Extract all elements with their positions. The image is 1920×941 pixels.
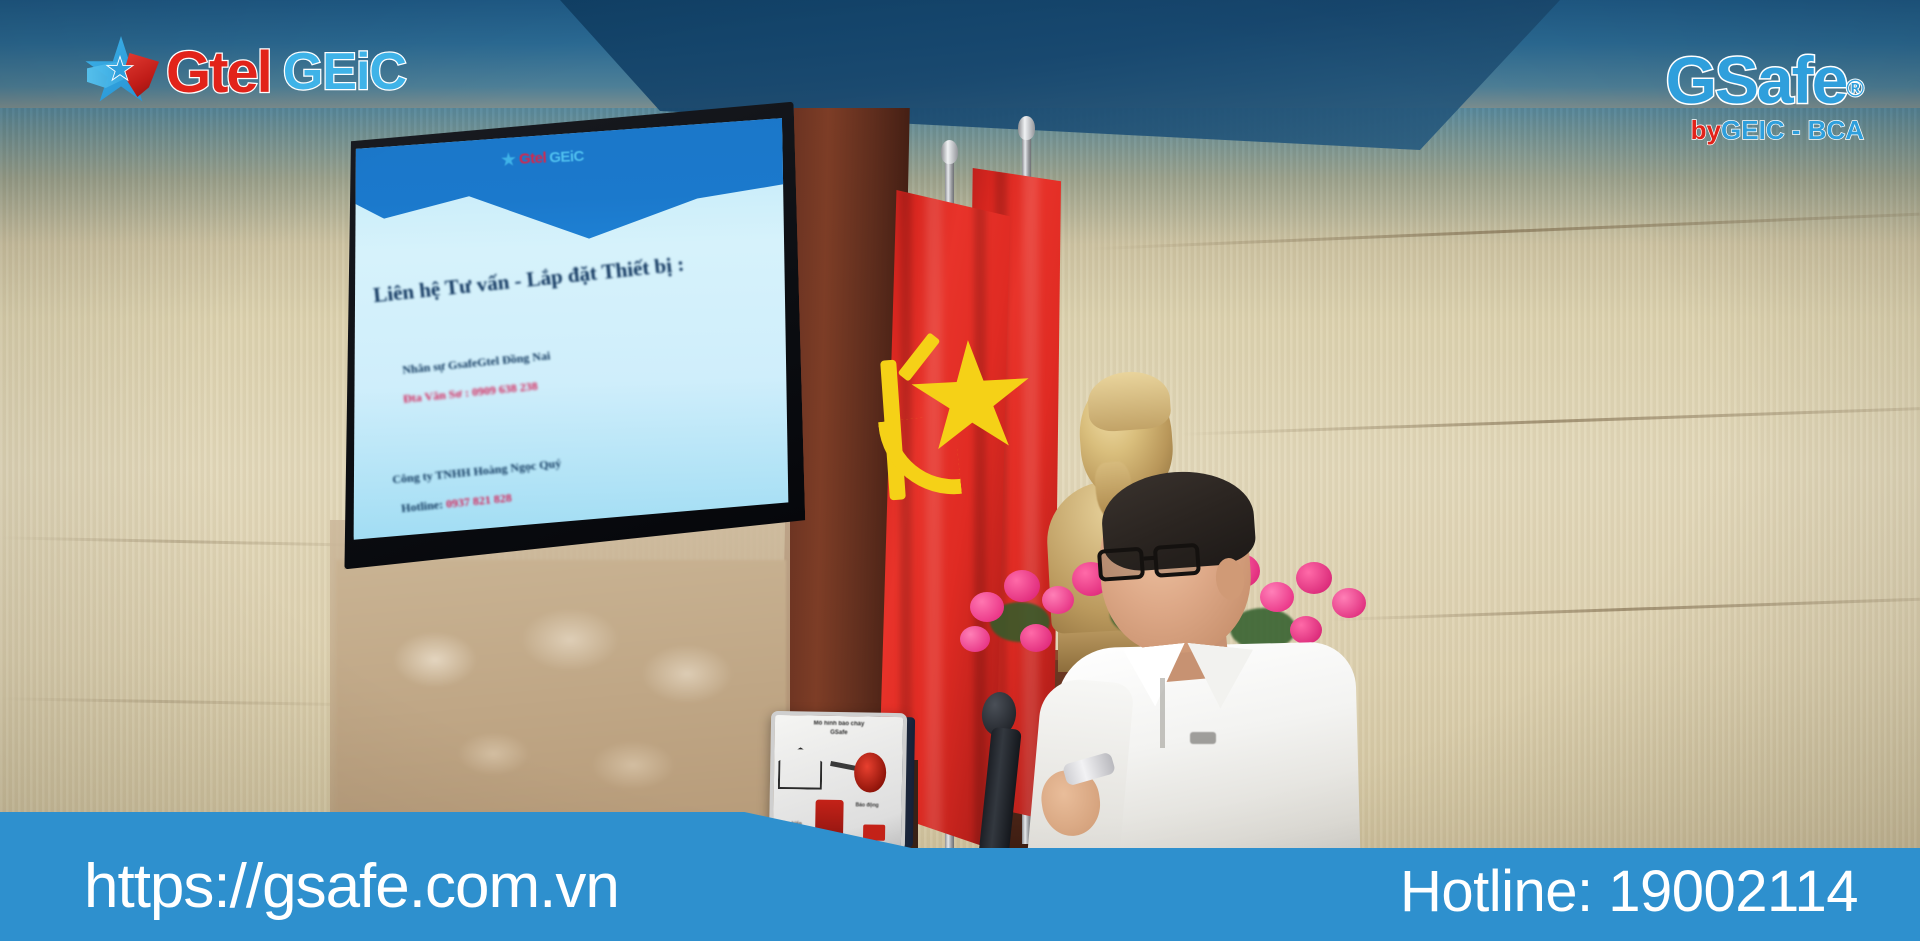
- fire-safety-demo-panel: Mô hình báo cháy GSafe Báo động Cảm biến: [769, 711, 907, 851]
- presentation-display: Gtel GEiC Liên hệ Tư vấn - Lắp đặt Thiết…: [332, 102, 807, 570]
- presenter-placket: [1160, 678, 1165, 748]
- panel-label-left: Cảm biến: [779, 821, 802, 827]
- flag-pole-cap-left: [941, 140, 958, 164]
- gsafe-subtitle: byGEIC - BCA: [1666, 115, 1864, 146]
- website-url[interactable]: https://gsafe.com.vn: [84, 851, 619, 922]
- panel-title: Mô hình báo cháy GSafe: [779, 719, 899, 743]
- shirt-logo: [1190, 732, 1216, 744]
- presenter: [1040, 470, 1370, 870]
- slide-hotline-label: Hotline:: [401, 497, 444, 515]
- hotline-text[interactable]: Hotline: 19002114: [1400, 858, 1858, 925]
- lens-right: [1153, 543, 1201, 578]
- gsafe-parent-label: GEIC - BCA: [1721, 115, 1864, 145]
- tv-screen: Gtel GEiC Liên hệ Tư vấn - Lắp đặt Thiết…: [342, 116, 794, 548]
- panel-title-line2: GSafe: [779, 728, 899, 739]
- slide-title: Liên hệ Tư vấn - Lắp đặt Thiết bị :: [372, 242, 777, 308]
- gsafe-by-label: by: [1691, 115, 1721, 145]
- lens-left: [1097, 547, 1145, 582]
- slide-hotline-value: 0937 821 828: [446, 491, 513, 511]
- gtel-geic-logo[interactable]: Gtel GEiC: [84, 36, 406, 108]
- star-icon: [84, 36, 158, 108]
- star-icon: [501, 152, 517, 168]
- alarm-button-icon: [863, 824, 885, 840]
- gsafe-wordmark: GSafe: [1666, 48, 1847, 113]
- alarm-box-icon: [815, 800, 844, 842]
- panel-label-right: Báo động: [856, 802, 879, 808]
- carved-relief-panel: [336, 560, 786, 845]
- registered-trademark-icon: ®: [1846, 76, 1864, 103]
- geic-wordmark: GEiC: [283, 42, 406, 102]
- slide-body: Liên hệ Tư vấn - Lắp đặt Thiết bị : Nhân…: [346, 242, 794, 548]
- flag-pole-cap-right: [1018, 116, 1035, 140]
- video-frame: Gtel GEiC Liên hệ Tư vấn - Lắp đặt Thiết…: [0, 0, 1920, 941]
- slide-logo-geic: GEiC: [549, 148, 584, 167]
- slide-logo-gtel: Gtel: [519, 150, 547, 168]
- gtel-wordmark: Gtel: [166, 39, 271, 106]
- gsafe-logo[interactable]: GSafe® byGEIC - BCA: [1666, 48, 1864, 146]
